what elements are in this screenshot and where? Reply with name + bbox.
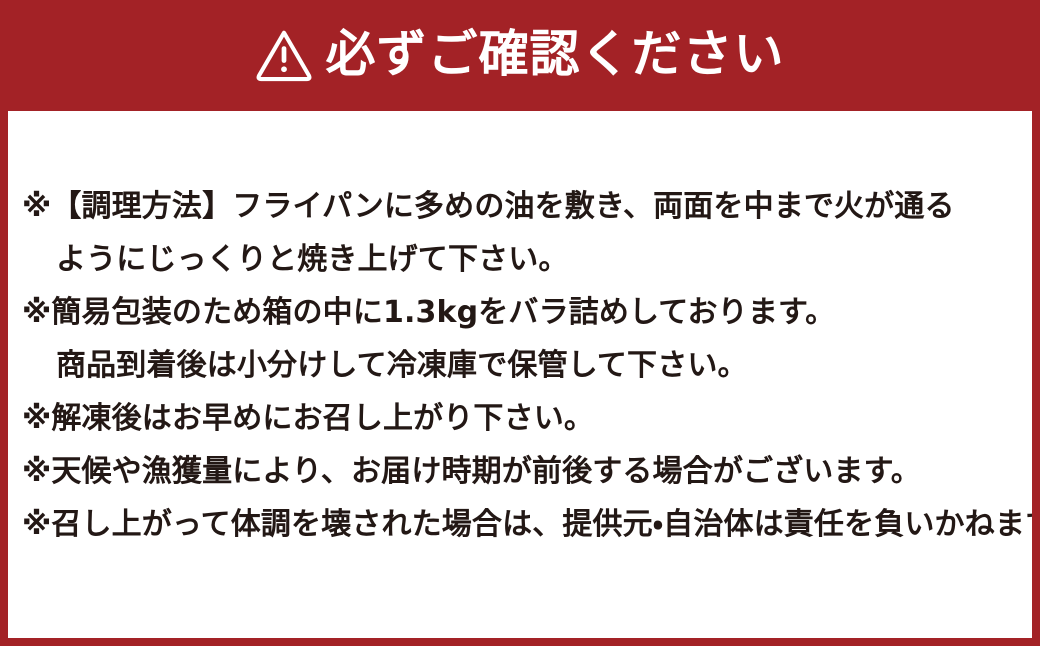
notice-header-band: 必ずご確認ください (0, 0, 1040, 111)
notice-header-title: 必ずご確認ください (326, 29, 785, 79)
notice-body: ※【調理方法】フライパンに多めの油を敷き、両面を中まで火が通る ようにじっくりと… (22, 180, 1024, 551)
notice-line: 商品到着後は小分けして冷凍庫で保管して下さい。 (22, 339, 1024, 392)
notice-line: ※天候や漁獲量により、お届け時期が前後する場合がございます。 (22, 445, 1024, 498)
notice-line: ※解凍後はお早めにお召し上がり下さい。 (22, 392, 1024, 445)
warning-triangle-icon (256, 25, 312, 83)
notice-line: ※召し上がって体調を壊された場合は、提供元・自治体は責任を負いかねます。 (22, 498, 1024, 551)
notice-line: ※【調理方法】フライパンに多めの油を敷き、両面を中まで火が通る (22, 180, 1024, 233)
notice-card: 必ずご確認ください ※【調理方法】フライパンに多めの油を敷き、両面を中まで火が通… (0, 0, 1040, 646)
notice-line: ※簡易包装のため箱の中に1.3kgをバラ詰めしております。 (22, 286, 1024, 339)
notice-line: ようにじっくりと焼き上げて下さい。 (22, 233, 1024, 286)
